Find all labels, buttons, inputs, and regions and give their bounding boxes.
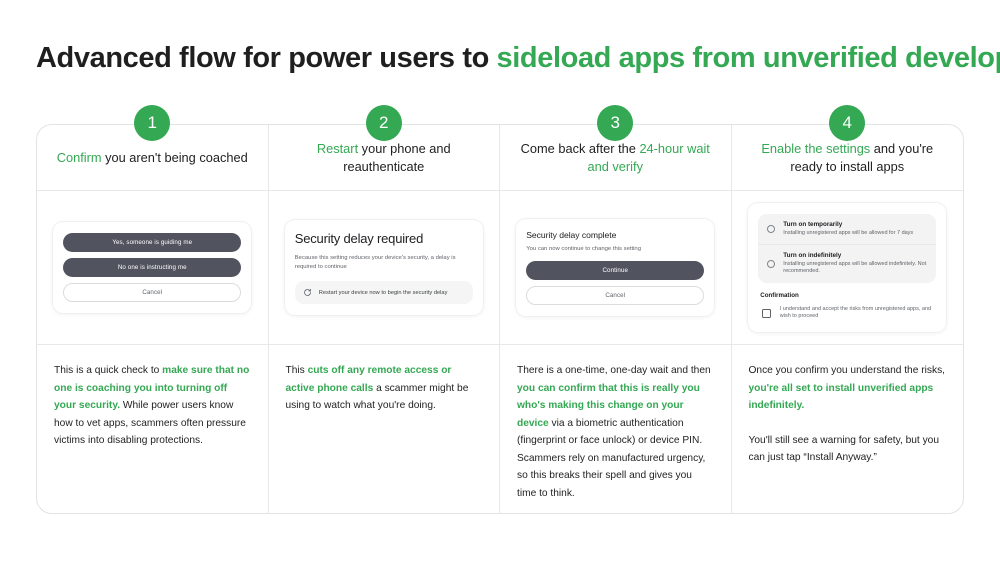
step-number-badge-1: 1 bbox=[134, 105, 170, 141]
mock-button-cancel[interactable]: Cancel bbox=[526, 286, 704, 305]
step-column-1: 1 Confirm you aren't being coached Yes, … bbox=[37, 125, 269, 513]
mock-restart-notice-text: Restart your device now to begin the sec… bbox=[319, 289, 448, 297]
body-run: This bbox=[286, 365, 308, 376]
step-body-1: This is a quick check to make sure that … bbox=[37, 345, 268, 513]
radio-option-title: Turn on temporarily bbox=[783, 221, 913, 228]
confirmation-checkbox-text: I understand and accept the risks from u… bbox=[780, 306, 937, 321]
step-heading-4-green: Enable the settings bbox=[761, 141, 870, 156]
mock-title: Security delay required bbox=[295, 231, 473, 247]
body-run: via a biometric authentication (fingerpr… bbox=[517, 418, 705, 499]
step-body-2: This cuts off any remote access or activ… bbox=[269, 345, 500, 513]
page-title: Advanced flow for power users to sideloa… bbox=[36, 42, 1000, 75]
confirmation-label: Confirmation bbox=[760, 292, 936, 299]
step-body-paragraph-1: This is a quick check to make sure that … bbox=[54, 362, 251, 450]
step-number-badge-3: 3 bbox=[597, 105, 633, 141]
mock-button-yes-guiding[interactable]: Yes, someone is guiding me bbox=[63, 233, 241, 252]
security-delay-required-mockup: Security delay required Because this set… bbox=[285, 220, 483, 316]
mock-title: Security delay complete bbox=[526, 230, 704, 240]
radio-option-indefinite-content: Turn on indefinitely Installing unregist… bbox=[783, 252, 927, 276]
body-run-green: you're all set to install unverified app… bbox=[749, 383, 934, 412]
confirmation-checkbox-row[interactable]: I understand and accept the risks from u… bbox=[758, 306, 936, 321]
step-heading-2-green: Restart bbox=[317, 141, 358, 156]
step-column-4: 4 Enable the settings and you're ready t… bbox=[732, 125, 964, 513]
step-mockup-2: Security delay required Because this set… bbox=[269, 191, 500, 345]
mock-restart-notice[interactable]: Restart your device now to begin the sec… bbox=[295, 281, 473, 304]
mock-button-no-one-instructing[interactable]: No one is instructing me bbox=[63, 258, 241, 277]
step-heading-1-green: Confirm bbox=[57, 150, 102, 165]
step-heading-2: Restart your phone and reauthenticate bbox=[283, 140, 486, 176]
mock-button-continue[interactable]: Continue bbox=[526, 261, 704, 280]
body-run: Once you confirm you understand the risk… bbox=[749, 365, 946, 376]
mock-paragraph: Because this setting reduces your device… bbox=[295, 254, 473, 272]
step-body-3: There is a one-time, one-day wait and th… bbox=[500, 345, 731, 513]
step-body-4: Once you confirm you understand the risk… bbox=[732, 345, 964, 513]
security-delay-complete-mockup: Security delay complete You can now cont… bbox=[516, 219, 714, 316]
mock-subtitle: You can now continue to change this sett… bbox=[526, 246, 704, 252]
step-heading-2-rest: your phone and reauthenticate bbox=[343, 141, 450, 174]
page-title-lead: Advanced flow for power users to bbox=[36, 42, 497, 74]
radio-icon[interactable] bbox=[767, 260, 775, 268]
step-body-paragraph-3: There is a one-time, one-day wait and th… bbox=[517, 362, 714, 502]
step-heading-3-rest: Come back after the bbox=[521, 141, 640, 156]
settings-radio-mockup: Turn on temporarily Installing unregiste… bbox=[748, 203, 946, 332]
choice-sheet-mockup: Yes, someone is guiding me No one is ins… bbox=[53, 222, 251, 313]
radio-option-desc: Installing unregistered apps will be all… bbox=[783, 230, 913, 238]
step-body-paragraph-2: This cuts off any remote access or activ… bbox=[286, 362, 483, 415]
step-heading-1-rest: you aren't being coached bbox=[102, 150, 248, 165]
step-column-3: 3 Come back after the 24-hour wait and v… bbox=[500, 125, 732, 513]
step-heading-1: Confirm you aren't being coached bbox=[57, 149, 248, 167]
step-number-badge-2: 2 bbox=[366, 105, 402, 141]
mock-button-cancel[interactable]: Cancel bbox=[63, 283, 241, 302]
steps-grid: 1 Confirm you aren't being coached Yes, … bbox=[36, 124, 964, 514]
step-column-2: 2 Restart your phone and reauthenticate … bbox=[269, 125, 501, 513]
body-run: There is a one-time, one-day wait and th… bbox=[517, 365, 711, 376]
step-heading-3: Come back after the 24-hour wait and ver… bbox=[514, 140, 717, 176]
radio-option-title: Turn on indefinitely bbox=[783, 252, 927, 259]
checkbox-icon[interactable] bbox=[762, 309, 771, 318]
radio-option-desc: Installing unregistered apps will be all… bbox=[783, 261, 927, 276]
radio-option-temporary-content: Turn on temporarily Installing unregiste… bbox=[783, 221, 913, 237]
radio-option-group: Turn on temporarily Installing unregiste… bbox=[758, 214, 936, 283]
step-mockup-3: Security delay complete You can now cont… bbox=[500, 191, 731, 345]
step-body-paragraph-4b: You'll still see a warning for safety, b… bbox=[749, 432, 947, 467]
infographic-page: Advanced flow for power users to sideloa… bbox=[0, 0, 1000, 563]
radio-option-temporary[interactable]: Turn on temporarily Installing unregiste… bbox=[758, 214, 936, 244]
radio-icon[interactable] bbox=[767, 225, 775, 233]
refresh-icon bbox=[303, 288, 312, 297]
body-run: You'll still see a warning for safety, b… bbox=[749, 435, 940, 464]
step-number-badge-4: 4 bbox=[829, 105, 865, 141]
step-mockup-4: Turn on temporarily Installing unregiste… bbox=[732, 191, 964, 345]
body-run: This is a quick check to bbox=[54, 365, 162, 376]
step-heading-4: Enable the settings and you're ready to … bbox=[746, 140, 950, 176]
step-body-paragraph-4a: Once you confirm you understand the risk… bbox=[749, 362, 947, 415]
radio-option-indefinite[interactable]: Turn on indefinitely Installing unregist… bbox=[758, 244, 936, 283]
step-mockup-1: Yes, someone is guiding me No one is ins… bbox=[37, 191, 268, 345]
page-title-highlight: sideload apps from unverified developers bbox=[497, 42, 1000, 74]
